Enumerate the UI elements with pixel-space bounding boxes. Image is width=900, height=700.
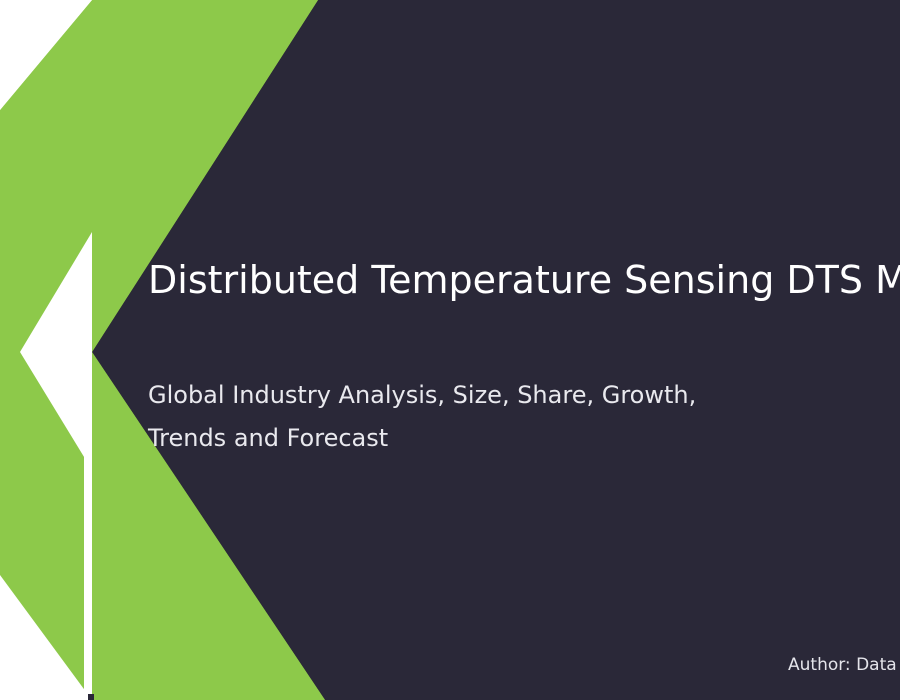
- panel-bottom-sliver: [88, 694, 94, 700]
- panel-edge-white-strip: [84, 352, 92, 700]
- page-title: Distributed Temperature Sensing DTS Ma: [148, 255, 900, 305]
- author-credit: Author: Data: [788, 652, 897, 678]
- title-slide: Distributed Temperature Sensing DTS Ma G…: [0, 0, 900, 700]
- subtitle-line-1: Global Industry Analysis, Size, Share, G…: [148, 374, 788, 417]
- slide-background-artwork: [0, 0, 900, 700]
- subtitle-line-2: Trends and Forecast: [148, 417, 788, 460]
- slide-subtitle: Global Industry Analysis, Size, Share, G…: [148, 374, 788, 460]
